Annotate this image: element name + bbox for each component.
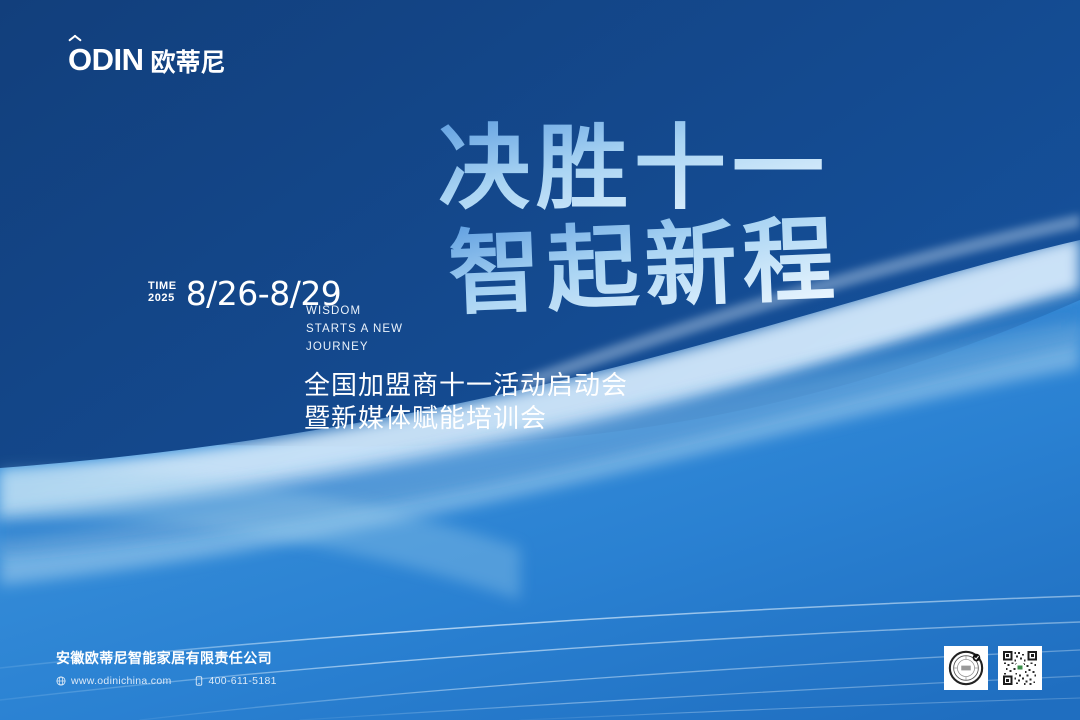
- event-poster: ODIN 欧蒂尼 决胜十一 智起新程 TIME 2025 8/26-8/29 W…: [0, 0, 1080, 720]
- logo-chinese-name: 欧蒂尼: [151, 50, 226, 75]
- footer-contact-block: 安徽欧蒂尼智能家居有限责任公司 www.odinichina.com: [56, 648, 277, 687]
- tagline-line-1: WISDOM: [306, 302, 403, 320]
- date-label-year: 2025: [148, 293, 177, 305]
- event-subtitle: 全国加盟商十一活动启动会 暨新媒体赋能培训会: [304, 370, 628, 436]
- date-label-stack: TIME 2025: [148, 281, 177, 306]
- phone-text: 400-611-5181: [209, 675, 277, 687]
- headline-line-2: 智起新程: [447, 205, 843, 328]
- website-text: www.odinichina.com: [71, 675, 172, 687]
- english-tagline: WISDOM STARTS A NEW JOURNEY: [306, 302, 403, 356]
- headline-line-1: 决胜十一: [438, 114, 830, 222]
- contact-list: www.odinichina.com 400-611-5181: [56, 675, 277, 687]
- subtitle-line-1: 全国加盟商十一活动启动会: [304, 370, 628, 403]
- seal-emblem-code[interactable]: [944, 646, 988, 690]
- headline-calligraphy: 决胜十一 智起新程: [430, 104, 950, 354]
- code-tiles: [944, 646, 1042, 690]
- logo-latin: DIN: [92, 42, 144, 77]
- brand-logo: ODIN 欧蒂尼: [68, 44, 226, 75]
- tagline-line-3: JOURNEY: [306, 338, 403, 356]
- globe-icon: [56, 676, 66, 686]
- logo-wordmark: ODIN: [68, 44, 144, 75]
- date-label-time: TIME: [148, 281, 177, 293]
- phone-contact[interactable]: 400-611-5181: [194, 675, 277, 687]
- website-contact[interactable]: www.odinichina.com: [56, 675, 172, 687]
- phone-icon: [194, 676, 204, 686]
- subtitle-line-2: 暨新媒体赋能培训会: [304, 403, 628, 436]
- wechat-qr-code[interactable]: [998, 646, 1042, 690]
- company-name: 安徽欧蒂尼智能家居有限责任公司: [56, 648, 277, 668]
- tagline-line-2: STARTS A NEW: [306, 320, 403, 338]
- logo-initial: O: [68, 42, 92, 77]
